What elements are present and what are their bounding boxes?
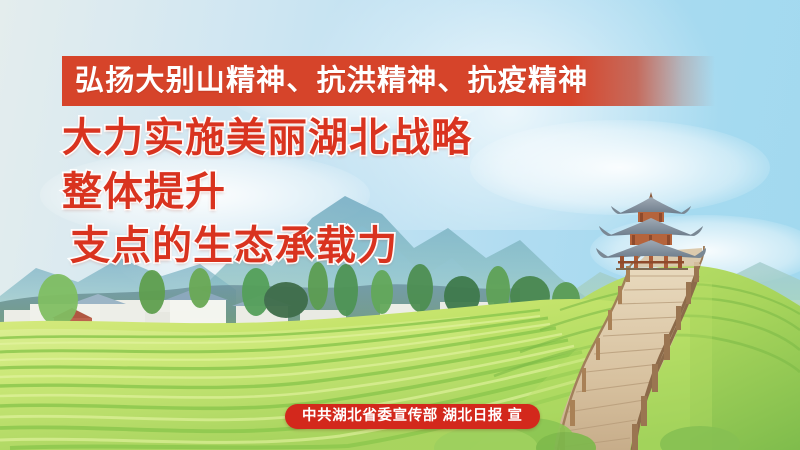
banner-text: 弘扬大别山精神、抗洪精神、抗疫精神 [75, 67, 588, 96]
headline-line-2: 整体提升 [62, 172, 472, 212]
header-banner: 弘扬大别山精神、抗洪精神、抗疫精神 [62, 56, 715, 106]
credit-text: 中共湖北省委宣传部 湖北日报 宣 [302, 409, 523, 424]
chinese-pavilion [596, 190, 706, 270]
credit-badge: 中共湖北省委宣传部 湖北日报 宣 [285, 404, 540, 429]
headline-line-3: 支点的生态承载力 [62, 226, 472, 266]
headline-block: 大力实施美丽湖北战略 整体提升 支点的生态承载力 [62, 118, 472, 266]
headline-line-1: 大力实施美丽湖北战略 [62, 118, 472, 158]
poster-canvas: 弘扬大别山精神、抗洪精神、抗疫精神 大力实施美丽湖北战略 整体提升 支点的生态承… [0, 0, 800, 450]
